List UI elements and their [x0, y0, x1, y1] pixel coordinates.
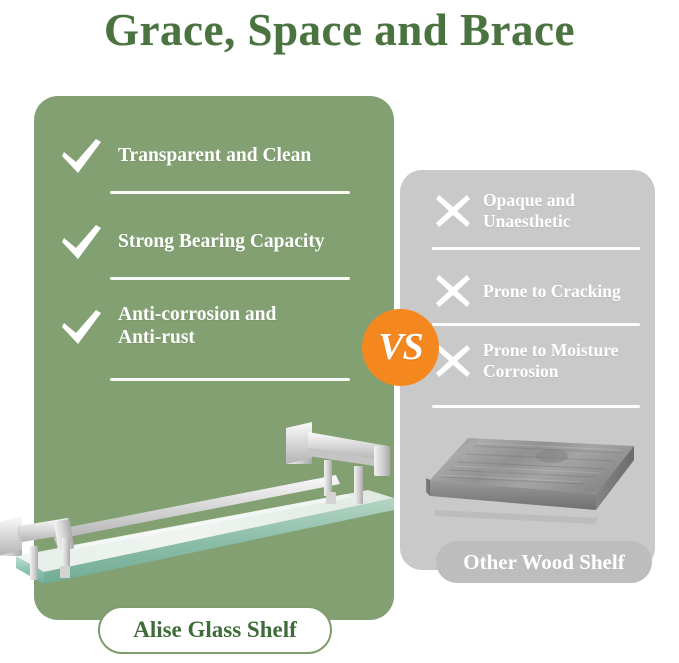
- competitor-feature-row-2: Prone to Cracking: [433, 272, 648, 310]
- competitor-name-pill: Other Wood Shelf: [436, 541, 652, 583]
- x-icon: [433, 272, 473, 310]
- vs-badge: VS: [362, 309, 439, 386]
- product-name-pill: Alise Glass Shelf: [98, 606, 332, 654]
- product-feature-row-1: Transparent and Clean: [58, 133, 358, 177]
- product-divider-2: [110, 277, 350, 280]
- check-icon: [58, 304, 104, 348]
- product-feature-row-2: Strong Bearing Capacity: [58, 219, 358, 263]
- product-name-label: Alise Glass Shelf: [133, 617, 297, 643]
- competitor-feature-label-3: Prone to Moisture Corrosion: [483, 340, 618, 381]
- product-feature-label-3: Anti-corrosion and Anti-rust: [118, 303, 276, 349]
- product-divider-3: [110, 378, 350, 381]
- x-icon: [433, 342, 473, 380]
- competitor-feature-row-1: Opaque and Unaesthetic: [433, 190, 648, 231]
- competitor-divider-3: [432, 405, 640, 408]
- competitor-name-label: Other Wood Shelf: [463, 550, 624, 575]
- product-feature-label-1: Transparent and Clean: [118, 144, 311, 167]
- wood-shelf-image: [424, 432, 638, 536]
- vs-label: VS: [378, 328, 422, 366]
- glass-shelf-image: [0, 398, 416, 608]
- check-icon: [58, 219, 104, 263]
- check-icon: [58, 133, 104, 177]
- product-divider-1: [110, 191, 350, 194]
- competitor-divider-1: [432, 247, 640, 250]
- x-icon: [433, 192, 473, 230]
- competitor-divider-2: [432, 323, 640, 326]
- infographic-canvas: Grace, Space and Brace Transparent and C…: [0, 0, 679, 663]
- product-feature-row-3: Anti-corrosion and Anti-rust: [58, 303, 358, 349]
- competitor-feature-row-3: Prone to Moisture Corrosion: [433, 340, 648, 381]
- competitor-feature-label-1: Opaque and Unaesthetic: [483, 190, 575, 231]
- product-feature-label-2: Strong Bearing Capacity: [118, 230, 325, 253]
- competitor-feature-label-2: Prone to Cracking: [483, 281, 621, 302]
- page-title: Grace, Space and Brace: [0, 4, 679, 56]
